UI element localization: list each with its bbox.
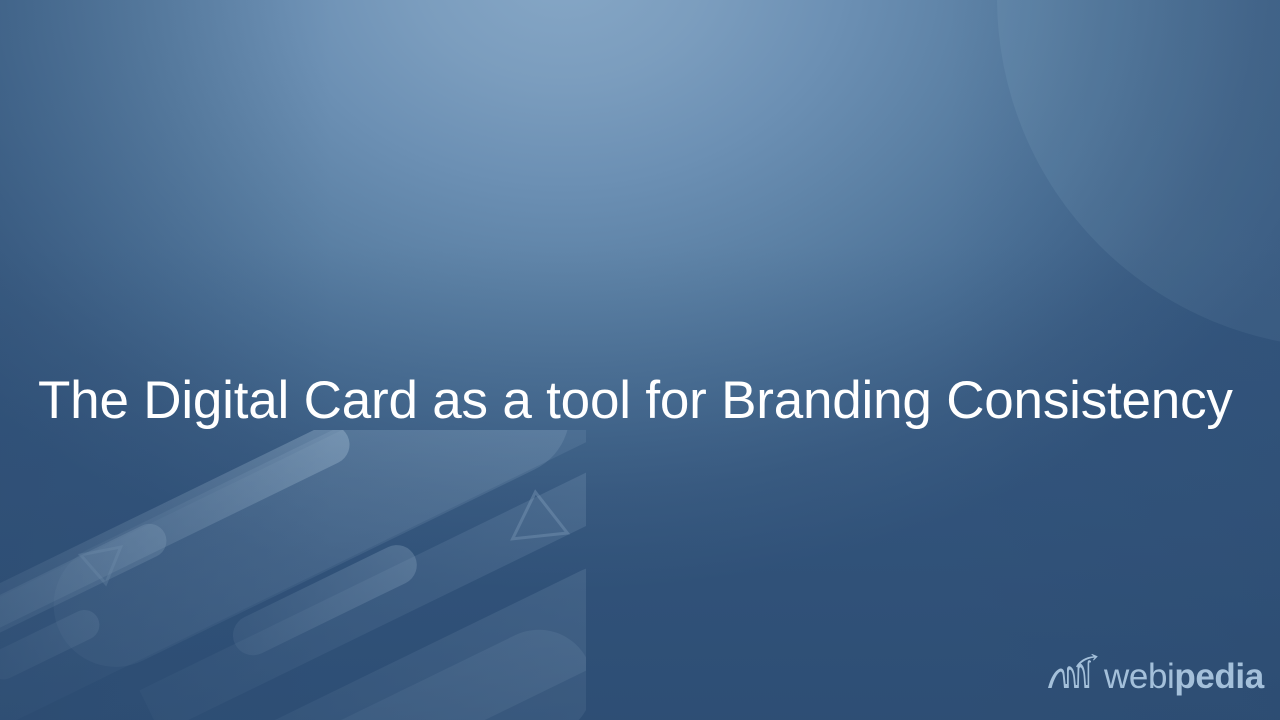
brand-name-light: webi: [1104, 657, 1174, 696]
diagonal-capsule-pattern: [0, 430, 586, 720]
page-title: The Digital Card as a tool for Branding …: [38, 369, 1248, 433]
capsule-group: [0, 430, 586, 720]
top-right-circle: [997, 0, 1280, 348]
brand-logo-text: webipedia: [1104, 659, 1264, 694]
slide-canvas: The Digital Card as a tool for Branding …: [0, 0, 1280, 720]
brand-name-bold: pedia: [1174, 657, 1263, 696]
brand-logo: webipedia: [1046, 650, 1258, 702]
webipedia-wave-arrow-mark-icon: [1046, 654, 1100, 699]
